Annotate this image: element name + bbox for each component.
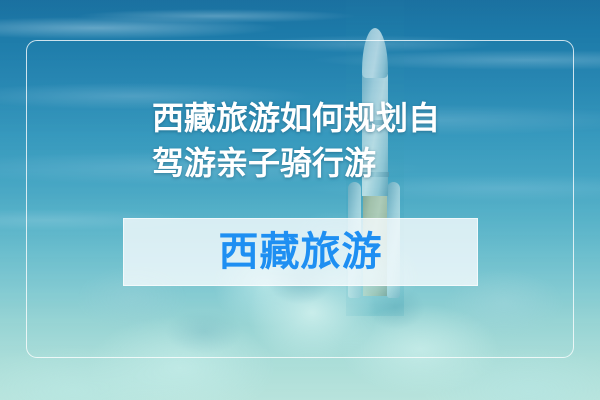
- global-blue-tint-overlay: [0, 0, 600, 400]
- keyword-banner: 西藏旅游: [123, 218, 478, 286]
- poster-canvas: 西藏旅游如何规划自驾游亲子骑行游 西藏旅游: [0, 0, 600, 400]
- page-title: 西藏旅游如何规划自驾游亲子骑行游: [152, 96, 452, 186]
- keyword-banner-label: 西藏旅游: [219, 232, 383, 272]
